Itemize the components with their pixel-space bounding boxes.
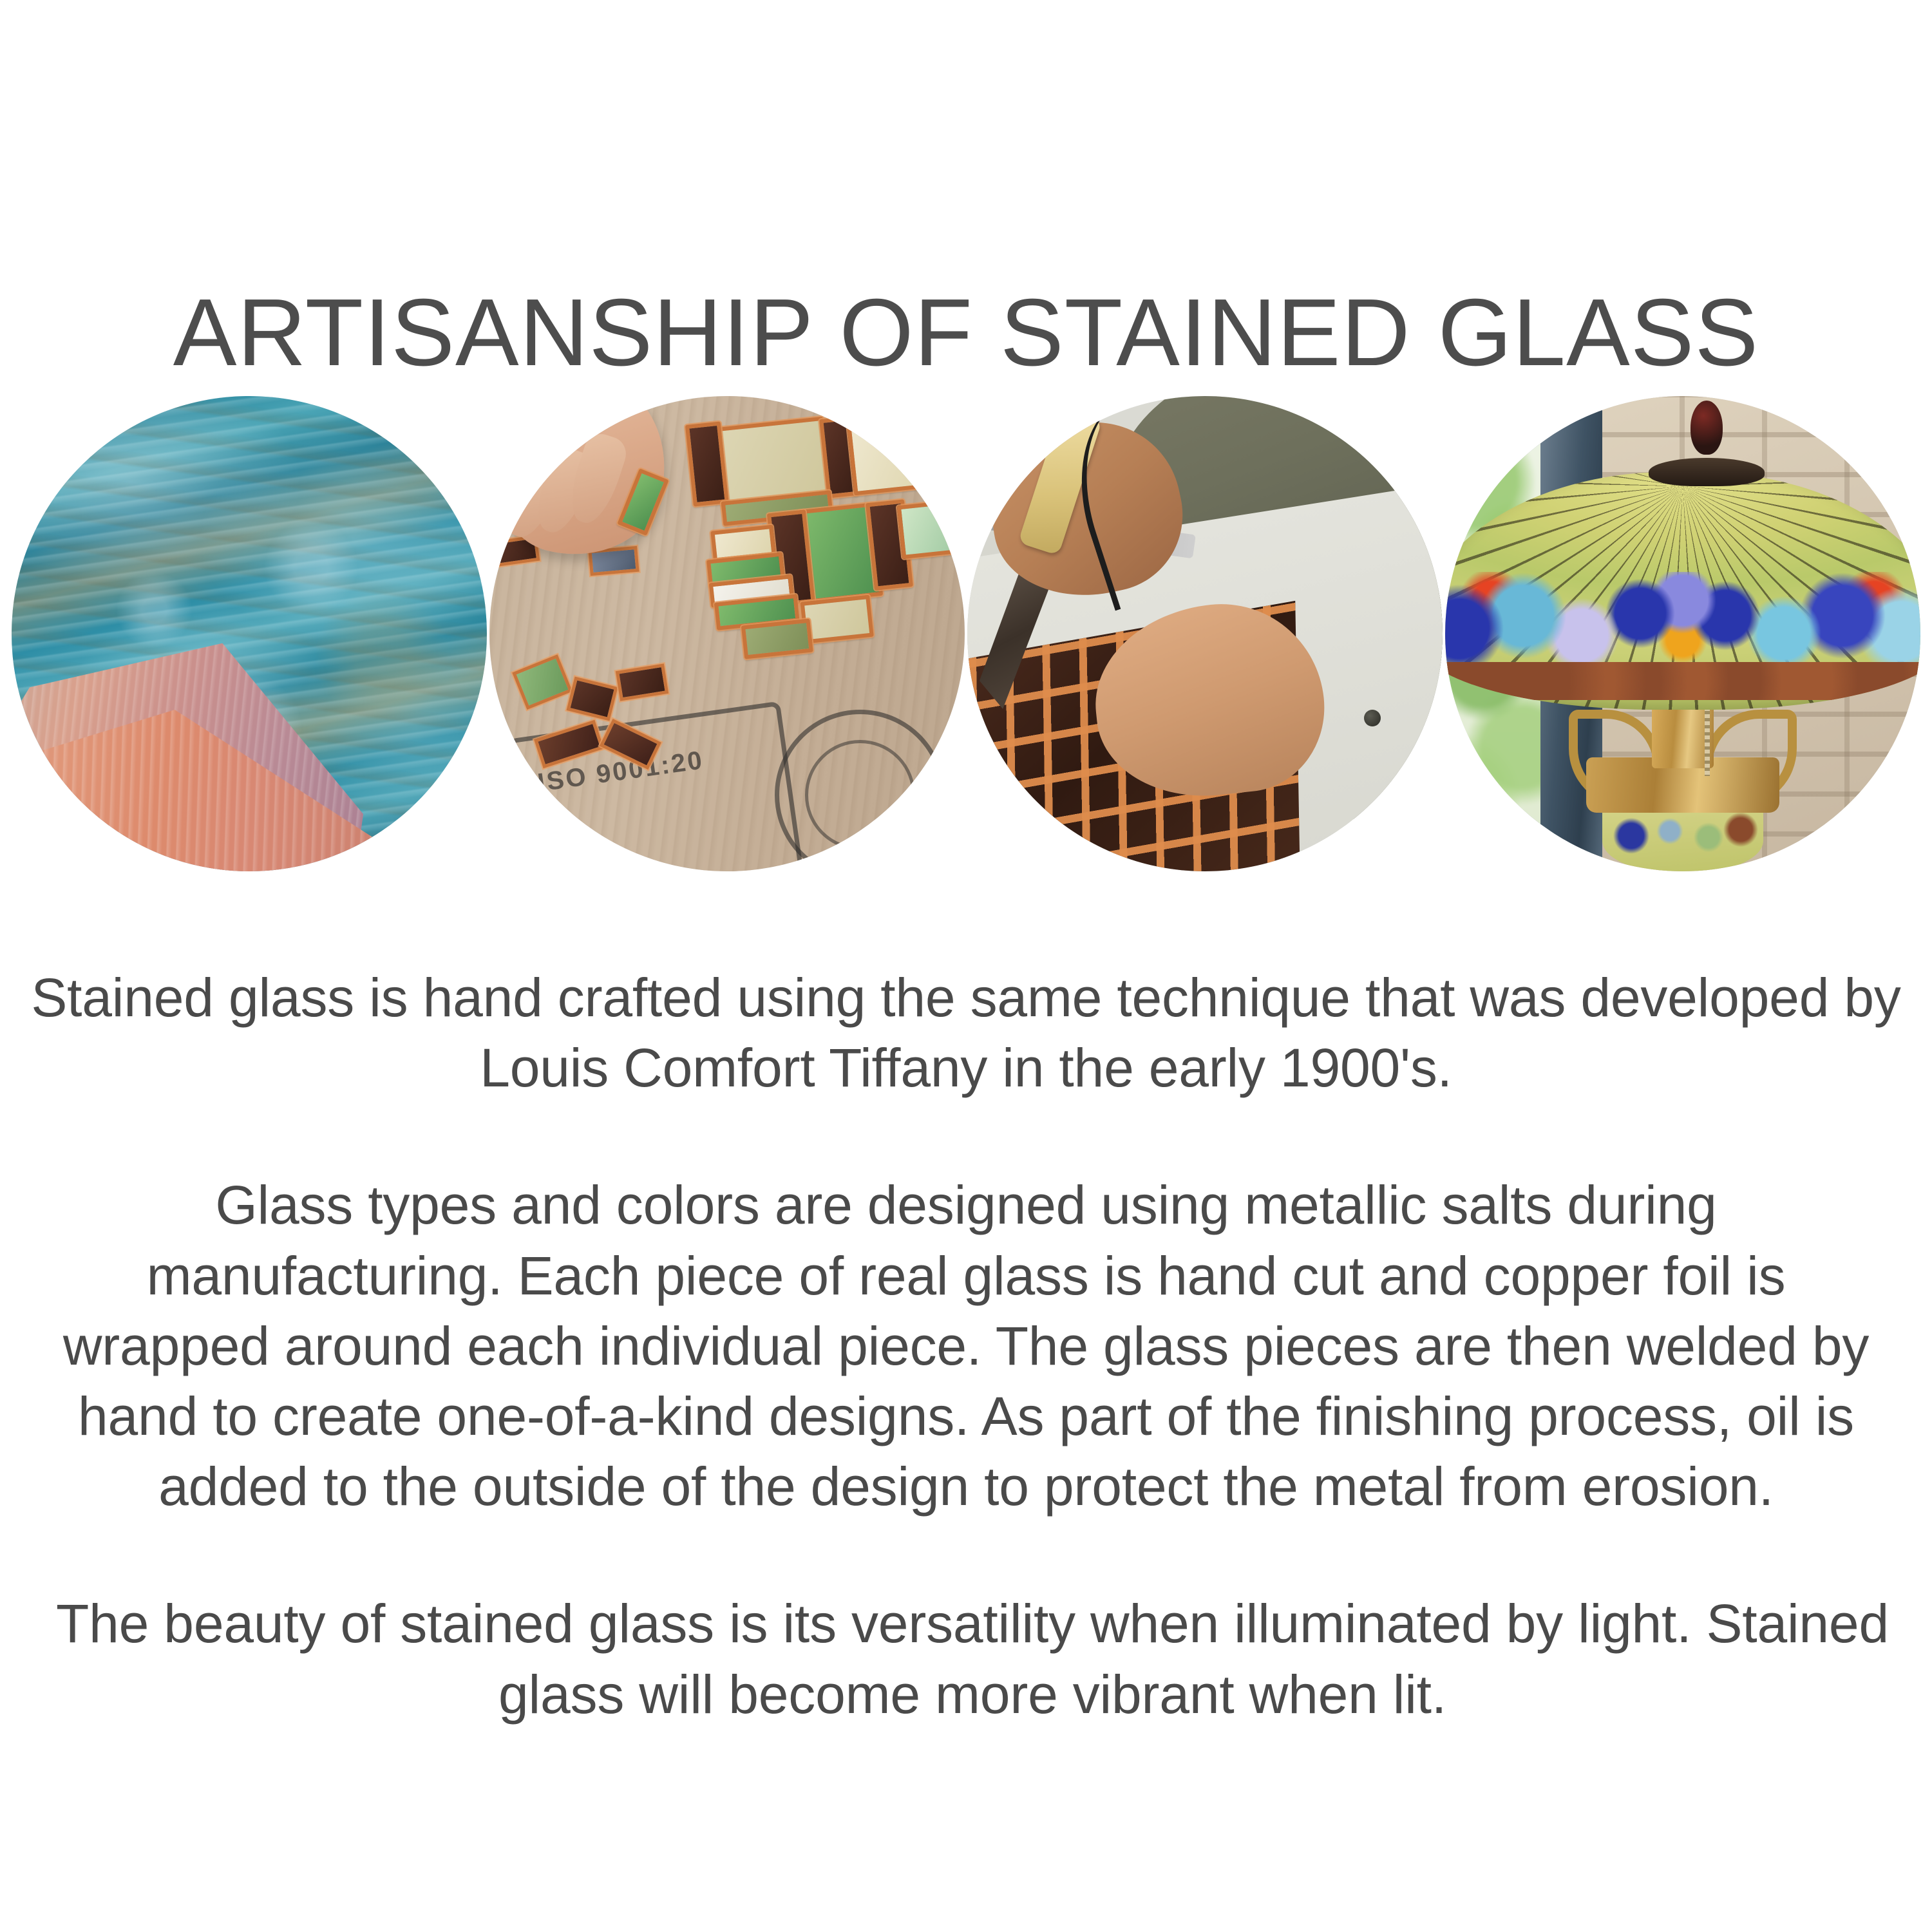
lamp-finial	[1690, 401, 1723, 455]
circle-vignette	[12, 396, 487, 871]
gallery-image-hand-cutting-and-foiling: ISO 9001:20	[489, 396, 965, 871]
gallery-image-art-glass-sheets	[12, 396, 487, 871]
lamp-shade-cap	[1649, 458, 1765, 486]
paragraph-intro: Stained glass is hand crafted using the …	[26, 963, 1906, 1103]
image-gallery-row: ISO 9001:20	[12, 396, 1920, 889]
foiled-glass-assembly	[637, 396, 965, 708]
gallery-image-soldering-panel	[967, 396, 1443, 871]
glass-tile	[897, 499, 965, 559]
page-title: ARTISANSHIP OF STAINED GLASS	[173, 283, 1759, 383]
board-stamp-circle	[775, 710, 945, 871]
glass-tile	[846, 411, 937, 495]
paragraph-process: Glass types and colors are designed usin…	[45, 1170, 1887, 1522]
sleeve-button	[1364, 710, 1381, 726]
gallery-image-finished-tiffany-lamp	[1445, 396, 1920, 871]
body-copy: Stained glass is hand crafted using the …	[26, 963, 1906, 1730]
glass-tile	[741, 618, 813, 659]
infographic-page: ARTISANSHIP OF STAINED GLASS ISO 9001:20	[0, 0, 1932, 1932]
tiffany-lamp-shade	[1445, 472, 1920, 710]
paragraph-beauty: The beauty of stained glass is its versa…	[26, 1589, 1919, 1729]
